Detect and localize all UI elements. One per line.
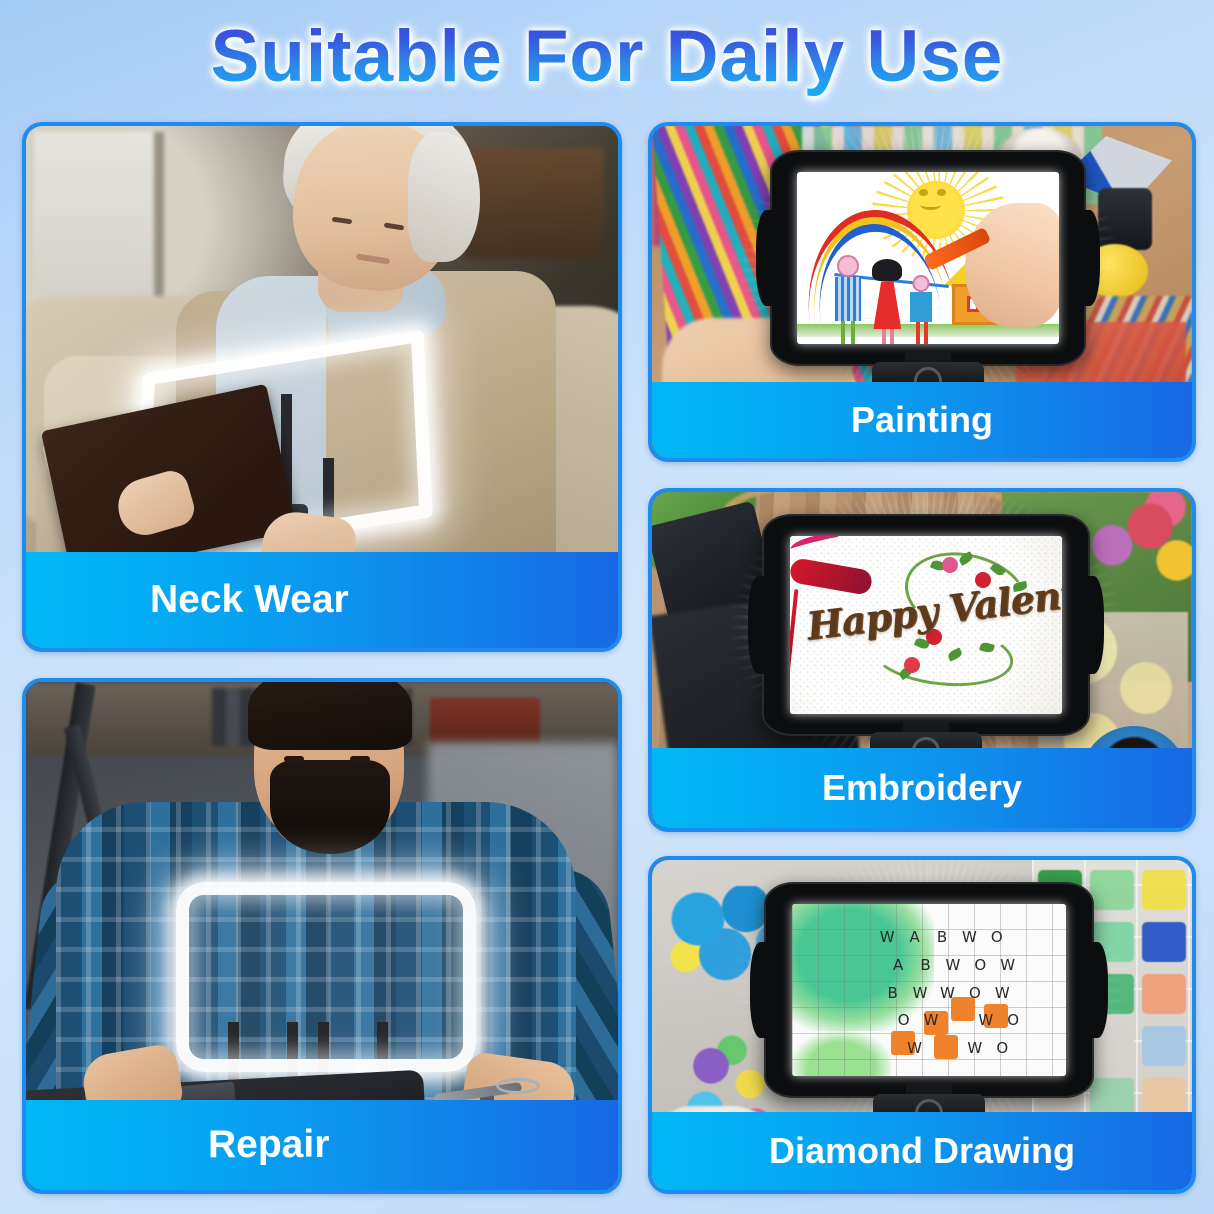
panel-neck-wear[interactable]: Neck Wear — [22, 122, 622, 652]
caption-label: Repair — [208, 1123, 329, 1167]
panel-caption-painting: Painting — [652, 382, 1192, 458]
panel-caption-embroidery: Embroidery — [652, 748, 1192, 828]
panel-painting[interactable]: Painting — [648, 122, 1196, 462]
magnifier-lamp-icon — [770, 150, 1086, 366]
page-title: Suitable For Daily Use — [211, 15, 1004, 98]
magnifier-lens: W A B W O A B W O W B W W O W O W — [792, 904, 1066, 1077]
magnifier-lamp-icon: Happy Valentine — [762, 514, 1090, 736]
magnifier-lamp-icon: W A B W O A B W O W B W W O W O W — [764, 882, 1094, 1098]
panel-caption-neck-wear: Neck Wear — [26, 552, 618, 648]
header: Suitable For Daily Use — [0, 0, 1214, 112]
caption-label: Embroidery — [822, 767, 1022, 809]
panel-caption-diamond-drawing: Diamond Drawing — [652, 1112, 1192, 1190]
panel-caption-repair: Repair — [26, 1100, 618, 1190]
caption-label: Diamond Drawing — [769, 1130, 1075, 1172]
led-light-panel-icon — [176, 882, 476, 1072]
caption-label: Neck Wear — [150, 578, 349, 622]
panel-repair[interactable]: Repair — [22, 678, 622, 1194]
caption-label: Painting — [851, 399, 993, 441]
magnifier-lens: Happy Valentine — [790, 536, 1062, 714]
magnifier-lens — [797, 172, 1059, 345]
panel-diamond-drawing[interactable]: W A B W O A B W O W B W W O W O W — [648, 856, 1196, 1194]
panel-embroidery[interactable]: Happy Valentine Embroidery — [648, 488, 1196, 832]
